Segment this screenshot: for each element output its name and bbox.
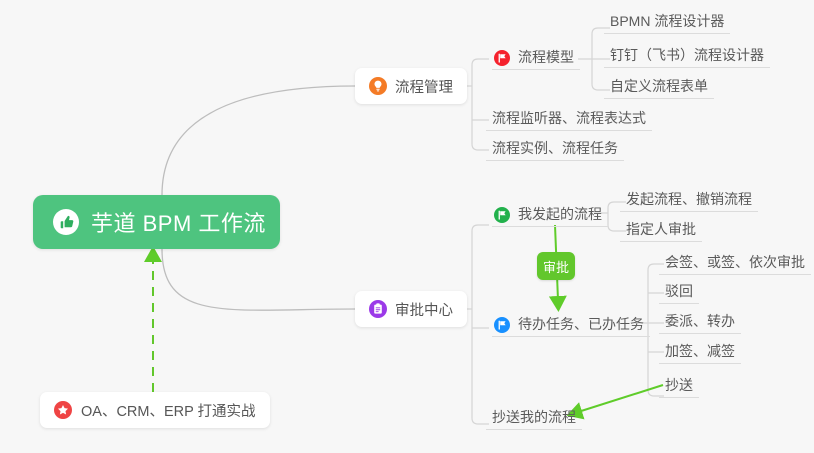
- topic-label: 流程模型: [518, 49, 574, 66]
- clipboard-icon: [369, 300, 387, 318]
- branch-label: 流程管理: [395, 76, 453, 97]
- topic-start-cancel-process[interactable]: 发起流程、撤销流程: [620, 186, 758, 212]
- lightbulb-icon: [369, 77, 387, 95]
- topic-my-initiated[interactable]: 我发起的流程: [492, 201, 608, 227]
- topic-label: 发起流程、撤销流程: [626, 191, 752, 208]
- topic-label: 抄送我的流程: [492, 409, 576, 426]
- branch-approval-center[interactable]: 审批中心: [355, 291, 467, 327]
- topic-label: 会签、或签、依次审批: [665, 254, 805, 271]
- topic-label: 委派、转办: [665, 313, 735, 330]
- topic-cc[interactable]: 抄送: [659, 372, 699, 398]
- topic-add-remove-sign[interactable]: 加签、减签: [659, 338, 741, 364]
- topic-label: 我发起的流程: [518, 206, 602, 223]
- topic-todo-done-tasks[interactable]: 待办任务、已办任务: [492, 311, 650, 337]
- topic-label: 钉钉（飞书）流程设计器: [610, 47, 764, 64]
- topic-cc-to-me[interactable]: 抄送我的流程: [486, 404, 582, 430]
- topic-label: 流程实例、流程任务: [492, 140, 618, 157]
- topic-label: BPMN 流程设计器: [610, 13, 724, 30]
- approval-badge[interactable]: 审批: [537, 252, 575, 280]
- flag-icon: [494, 50, 510, 66]
- topic-label: 指定人审批: [626, 221, 696, 238]
- topic-label: 自定义流程表单: [610, 78, 708, 95]
- branch-label: 审批中心: [395, 299, 453, 320]
- topic-label: 流程监听器、流程表达式: [492, 110, 646, 127]
- note-integration-practice[interactable]: OA、CRM、ERP 打通实战: [40, 392, 270, 428]
- flag-icon: [494, 317, 510, 333]
- branch-process-management[interactable]: 流程管理: [355, 68, 467, 104]
- mindmap-canvas: 芋道 BPM 工作流 流程管理 流程模型 BPMN 流程设计器 钉钉（飞书）流程: [0, 0, 814, 453]
- topic-label: 抄送: [665, 377, 693, 394]
- topic-label: 待办任务、已办任务: [518, 316, 644, 333]
- topic-bpmn-designer[interactable]: BPMN 流程设计器: [604, 8, 730, 34]
- flag-icon: [494, 207, 510, 223]
- topic-process-model[interactable]: 流程模型: [492, 44, 580, 70]
- topic-label: 驳回: [665, 283, 693, 300]
- thumbs-up-icon: [52, 208, 80, 236]
- topic-process-listener[interactable]: 流程监听器、流程表达式: [486, 105, 652, 131]
- topic-delegate-transfer[interactable]: 委派、转办: [659, 308, 741, 334]
- topic-assignee-approval[interactable]: 指定人审批: [620, 216, 702, 242]
- approval-badge-label: 审批: [543, 257, 569, 276]
- topic-custom-form[interactable]: 自定义流程表单: [604, 73, 714, 99]
- topic-process-instance[interactable]: 流程实例、流程任务: [486, 135, 624, 161]
- note-label: OA、CRM、ERP 打通实战: [81, 400, 256, 421]
- topic-countersign[interactable]: 会签、或签、依次审批: [659, 249, 811, 275]
- topic-label: 加签、减签: [665, 343, 735, 360]
- root-label: 芋道 BPM 工作流: [91, 206, 266, 238]
- topic-reject[interactable]: 驳回: [659, 278, 699, 304]
- star-icon: [54, 401, 72, 419]
- topic-dingtalk-designer[interactable]: 钉钉（飞书）流程设计器: [604, 42, 770, 68]
- root-node[interactable]: 芋道 BPM 工作流: [33, 195, 280, 249]
